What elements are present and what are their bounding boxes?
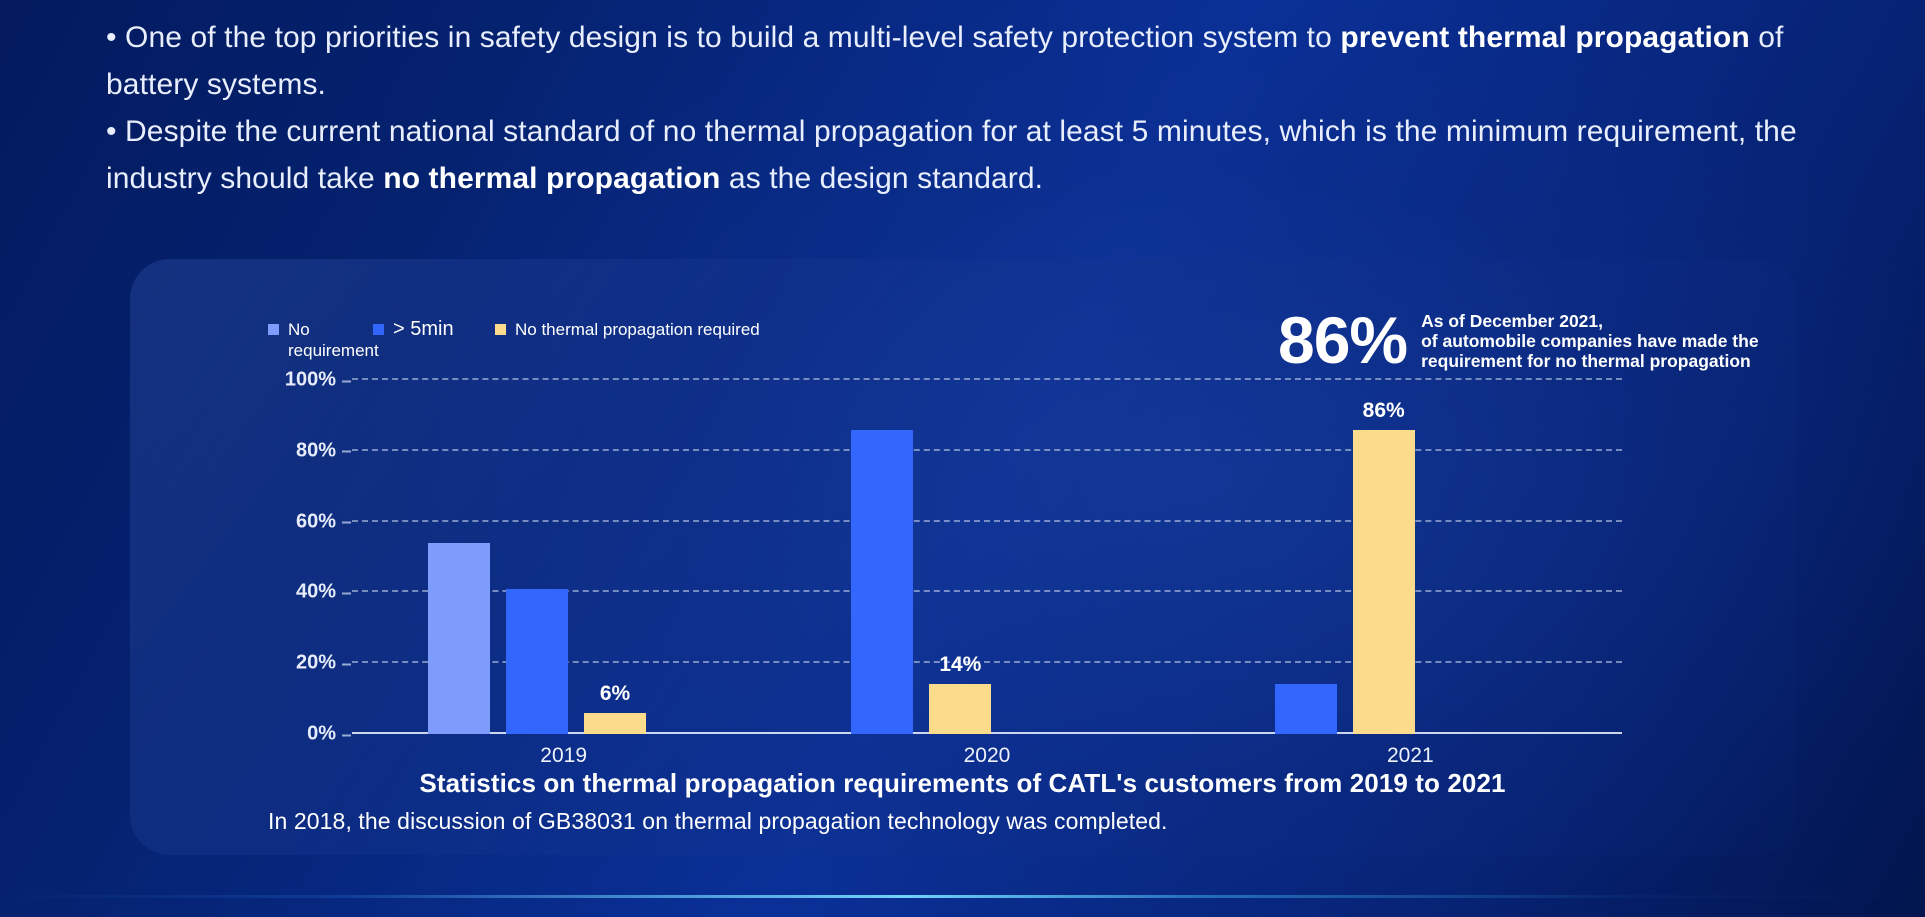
bar-2019-series-0[interactable] — [428, 543, 490, 734]
bullet-item-1: • One of the top priorities in safety de… — [106, 14, 1806, 108]
bullet-item-2: • Despite the current national standard … — [106, 108, 1806, 202]
bar-chart-plot: 0%20%40%60%80%100% 6%201914%202086%2021 — [352, 380, 1622, 734]
chart-title: Statistics on thermal propagation requir… — [0, 768, 1925, 799]
bar-value-label: 14% — [939, 653, 981, 677]
x-axis-tick-label: 2019 — [540, 744, 587, 768]
legend-item-over-5min[interactable]: > 5min — [373, 319, 495, 340]
legend-label-over-5min: > 5min — [393, 319, 454, 340]
legend-swatch-over-5min — [373, 324, 384, 335]
bullet-1-part-0: • One of the top priorities in safety de… — [106, 21, 1340, 54]
y-axis-tick-label: 20% — [296, 652, 336, 675]
legend-swatch-no-thermal-propagation — [495, 324, 506, 335]
bullet-2-part-1: no thermal propagation — [383, 162, 720, 195]
callout-line-3: requirement for no thermal propagation — [1421, 351, 1758, 371]
bar-group-bars: 86% — [1199, 380, 1622, 734]
bar-2020-series-1[interactable] — [851, 430, 913, 734]
y-axis-tick-label: 40% — [296, 581, 336, 604]
chart-legend: No requirement > 5min No thermal propaga… — [268, 319, 760, 361]
bar-wrapper: 6% — [584, 713, 646, 734]
bar-wrapper — [851, 430, 913, 734]
bar-wrapper — [428, 543, 490, 734]
bar-2021-series-2[interactable] — [1353, 430, 1415, 734]
bar-value-label: 86% — [1363, 399, 1405, 423]
legend-label-no-requirement: No requirement — [288, 319, 379, 361]
bar-group-2020: 14%2020 — [775, 380, 1198, 734]
bar-groups: 6%201914%202086%2021 — [352, 380, 1622, 734]
bar-group-bars: 6% — [352, 380, 775, 734]
legend-item-no-requirement[interactable]: No requirement — [268, 319, 373, 361]
bar-group-2019: 6%2019 — [352, 380, 775, 734]
bar-2021-series-1[interactable] — [1275, 684, 1337, 734]
bullet-text-block: • One of the top priorities in safety de… — [106, 14, 1806, 202]
y-axis-tick-label: 0% — [307, 723, 336, 746]
bar-wrapper — [506, 589, 568, 734]
bar-wrapper: 14% — [929, 684, 991, 734]
callout-86-percent: 86% As of December 2021, of automobile c… — [1278, 307, 1759, 373]
bar-2019-series-1[interactable] — [506, 589, 568, 734]
y-axis-tick-label: 60% — [296, 510, 336, 533]
bar-value-label: 6% — [600, 682, 630, 706]
bottom-glow-divider — [0, 895, 1925, 898]
bar-group-2021: 86%2021 — [1199, 380, 1622, 734]
y-axis-tick-label: 80% — [296, 439, 336, 462]
callout-line-1: As of December 2021, — [1421, 311, 1758, 331]
x-axis-tick-label: 2020 — [964, 744, 1011, 768]
bar-2020-series-2[interactable] — [929, 684, 991, 734]
bar-group-bars: 14% — [775, 380, 1198, 734]
bar-2019-series-2[interactable] — [584, 713, 646, 734]
chart-footnote: In 2018, the discussion of GB38031 on th… — [268, 808, 1167, 835]
bar-wrapper — [1275, 684, 1337, 734]
bullet-1-part-1: prevent thermal propagation — [1340, 21, 1749, 54]
callout-number: 86% — [1278, 307, 1407, 373]
legend-item-no-thermal-propagation[interactable]: No thermal propagation required — [495, 319, 760, 340]
callout-description: As of December 2021, of automobile compa… — [1421, 311, 1758, 371]
x-axis-tick-label: 2021 — [1387, 744, 1434, 768]
legend-swatch-no-requirement — [268, 324, 279, 335]
y-axis-tick-label: 100% — [285, 369, 336, 392]
bar-wrapper: 86% — [1353, 430, 1415, 734]
callout-line-2: of automobile companies have made the — [1421, 331, 1758, 351]
bullet-2-part-2: as the design standard. — [720, 162, 1043, 195]
legend-label-no-thermal-propagation: No thermal propagation required — [515, 319, 760, 340]
